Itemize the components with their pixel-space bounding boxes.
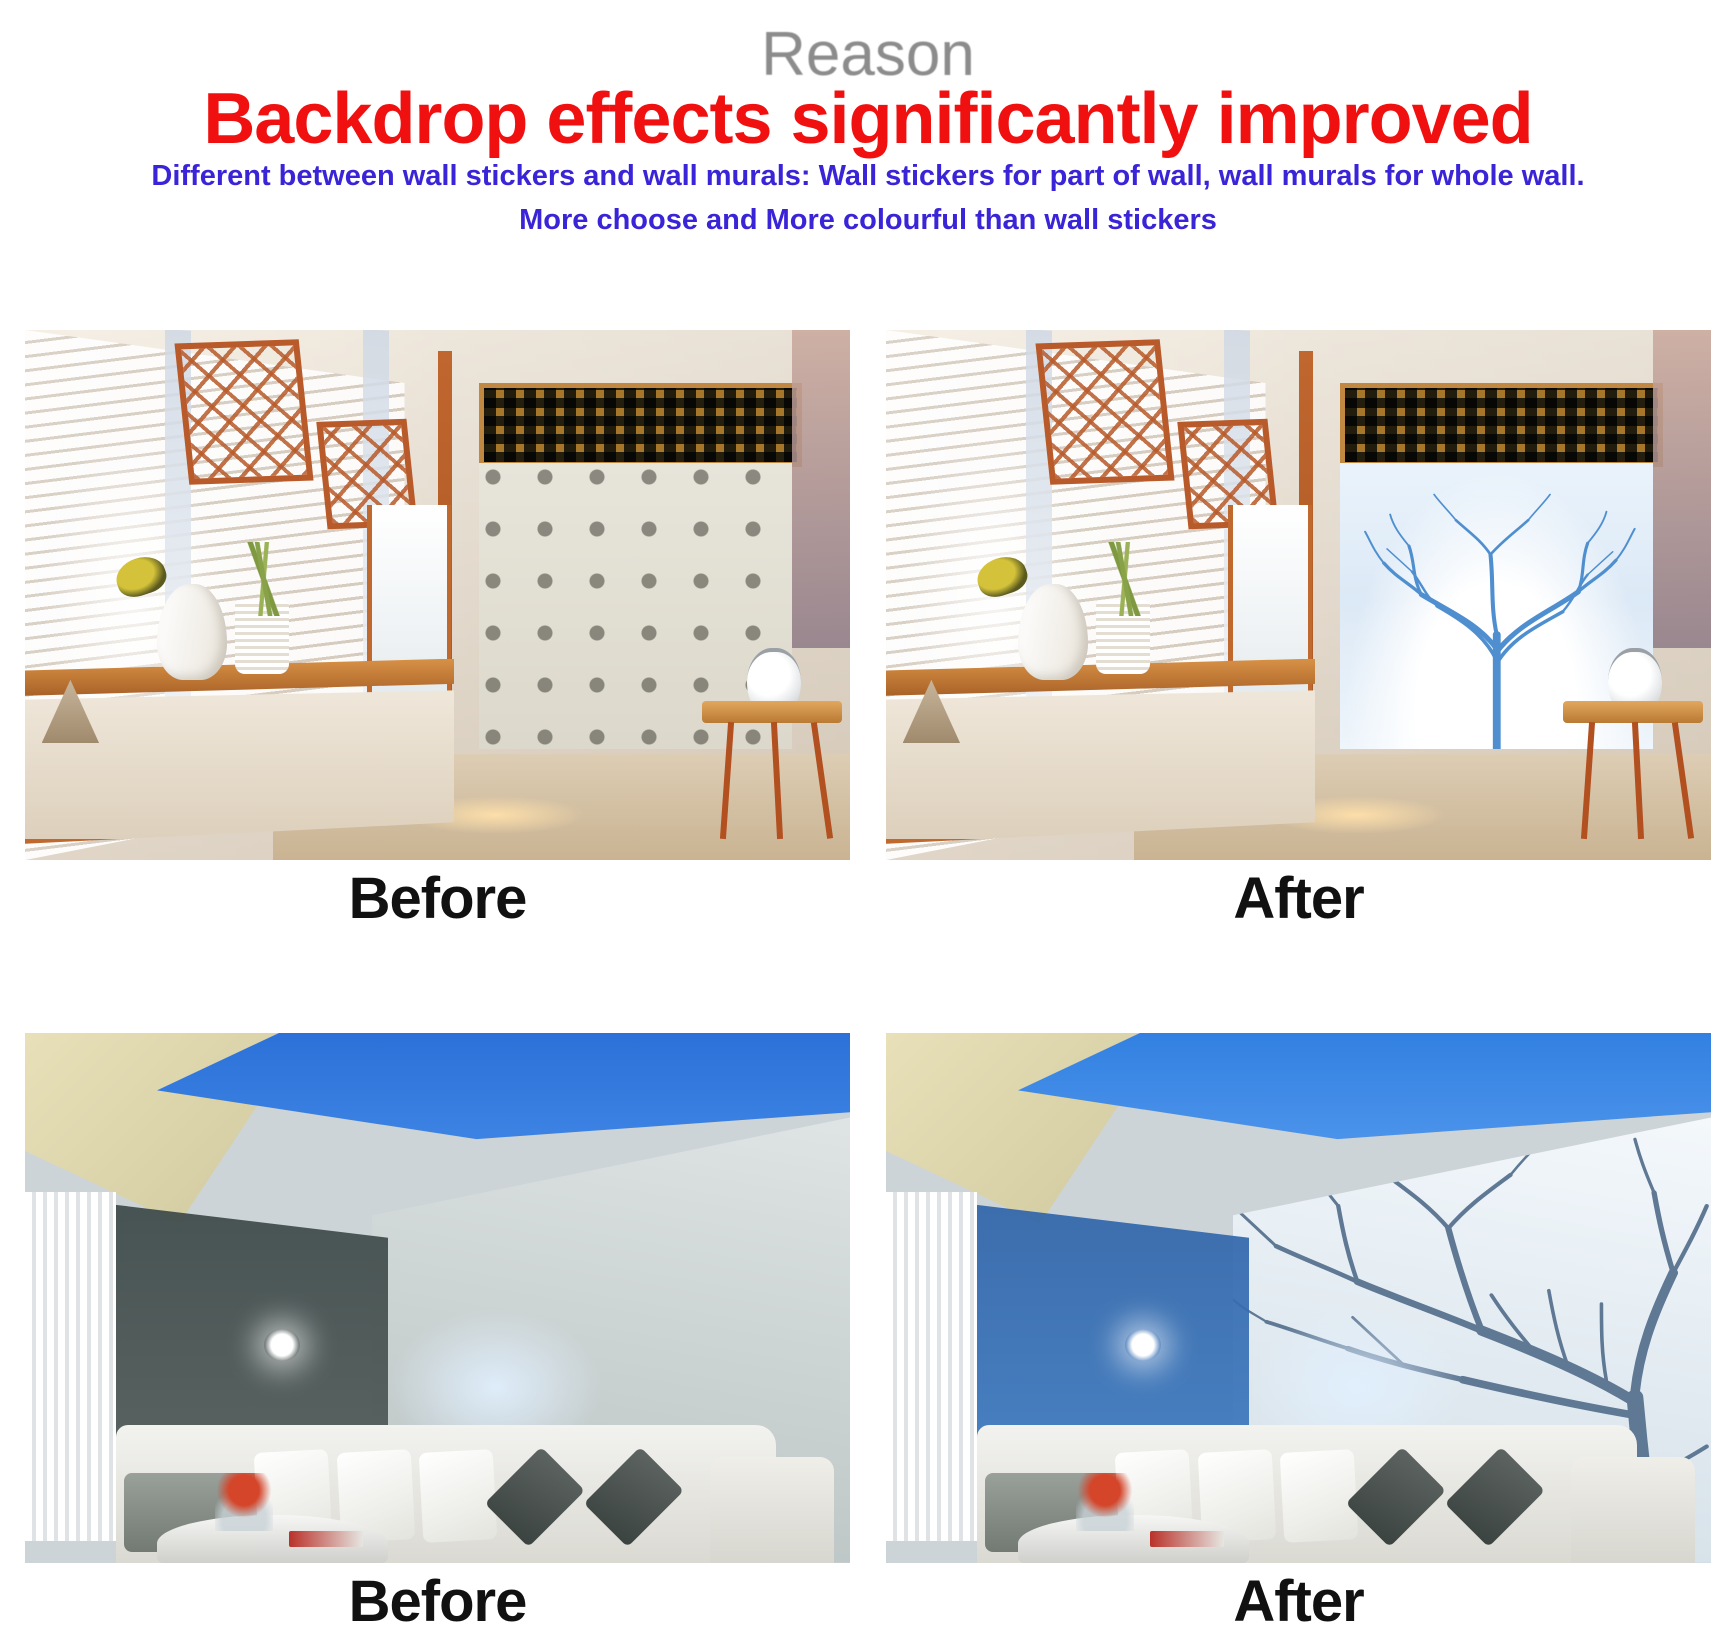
plant-leaves — [1092, 542, 1158, 616]
caption-after: After — [886, 1563, 1711, 1635]
curtain — [792, 330, 850, 648]
sofa-cushion — [1280, 1450, 1359, 1544]
white-vase — [1018, 584, 1088, 679]
book — [1150, 1531, 1224, 1547]
comparison-row-living-room: Before — [0, 1033, 1736, 1635]
lattice-wall-art — [174, 339, 313, 485]
lattice-wall-art — [1035, 339, 1174, 485]
hallway-before-photo — [25, 330, 850, 860]
caption-before: Before — [25, 1563, 850, 1635]
living-room-after-cell: After — [886, 1033, 1711, 1635]
hallway-after-cell: After — [886, 330, 1711, 933]
hallway-before-cell: Before — [25, 330, 850, 933]
book — [289, 1531, 363, 1547]
side-table-leg — [771, 722, 783, 839]
hallway-after-photo — [886, 330, 1711, 860]
living-room-before-cell: Before — [25, 1033, 850, 1635]
patterned-transom — [479, 383, 803, 467]
side-table-leg — [1632, 722, 1644, 839]
white-vase — [157, 584, 227, 679]
cabinet — [25, 690, 454, 843]
caption-before: Before — [25, 860, 850, 933]
eyebrow-text: Reason — [0, 26, 1736, 83]
page-header: Reason Backdrop effects significantly im… — [0, 0, 1736, 241]
subtitle-line-2: More choose and More colourful than wall… — [0, 199, 1736, 241]
side-table — [702, 701, 842, 839]
patterned-transom — [1340, 383, 1664, 467]
comparison-grid: Before — [0, 330, 1736, 1635]
armchair — [1571, 1457, 1695, 1563]
armchair — [710, 1457, 834, 1563]
side-table-leg — [811, 722, 833, 839]
comparison-row-hallway: Before — [0, 330, 1736, 933]
sofa-cushion — [419, 1450, 498, 1544]
side-table-leg — [1672, 722, 1694, 839]
page-title: Backdrop effects significantly improved — [0, 83, 1736, 155]
living-room-before-photo — [25, 1033, 850, 1563]
side-table-top — [702, 701, 842, 723]
side-table-leg — [720, 722, 734, 839]
radiator — [25, 1192, 116, 1542]
plant-leaves — [231, 542, 297, 616]
side-table-top — [1563, 701, 1703, 723]
side-table — [1563, 701, 1703, 839]
subtitle-line-1: Different between wall stickers and wall… — [0, 155, 1736, 197]
living-room-after-photo — [886, 1033, 1711, 1563]
radiator — [886, 1192, 977, 1542]
side-table-leg — [1581, 722, 1595, 839]
curtain — [1653, 330, 1711, 648]
cabinet — [886, 690, 1315, 843]
flower-vase — [1076, 1473, 1134, 1531]
flower-vase — [215, 1473, 273, 1531]
caption-after: After — [886, 860, 1711, 933]
